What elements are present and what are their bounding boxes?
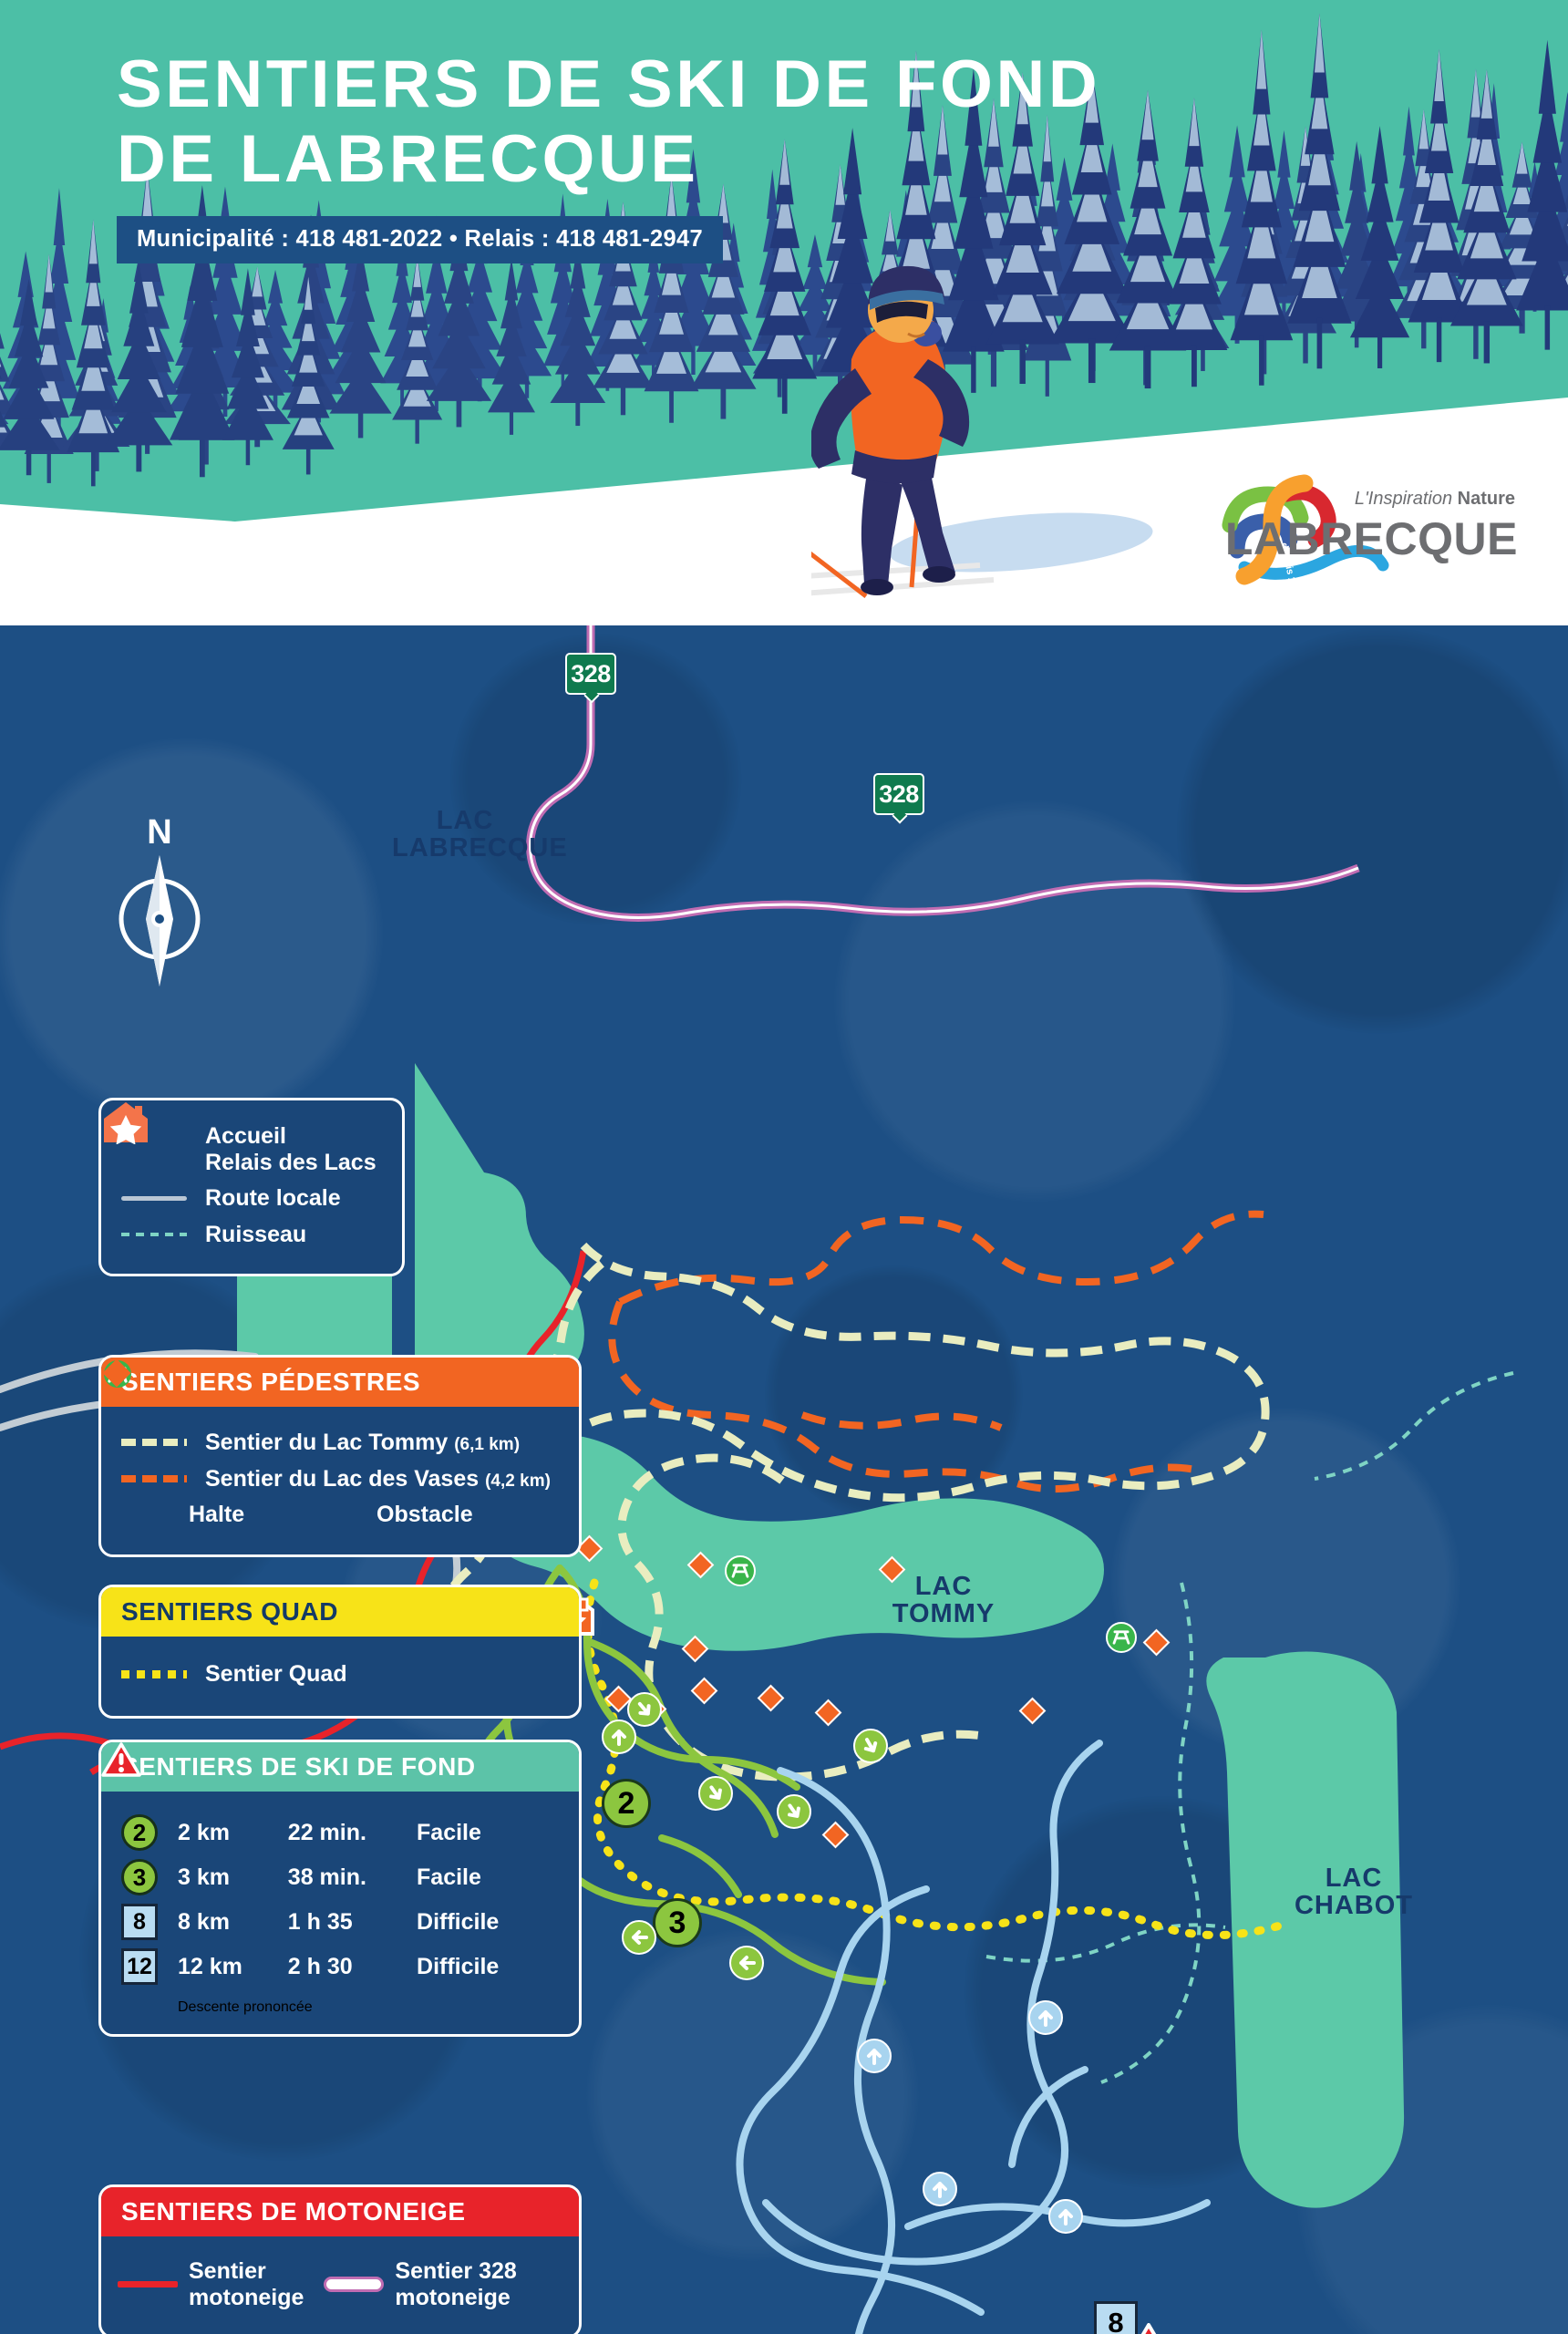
ski-time: 22 min. bbox=[288, 1820, 417, 1846]
ski-distance: 8 km bbox=[178, 1909, 288, 1936]
ski-badge-12: 12 bbox=[121, 1948, 158, 1985]
legend-label-halte: Halte bbox=[189, 1502, 325, 1528]
sentier-lac-des-vases bbox=[612, 1214, 1264, 1490]
ski-distance: 12 km bbox=[178, 1954, 288, 1980]
legend-header-pedestrian: SENTIERS PÉDESTRES bbox=[101, 1358, 579, 1407]
legend-item-accueil: Accueil Relais des Lacs bbox=[119, 1123, 384, 1175]
logo-wordmark: LABRECQUE bbox=[1225, 512, 1518, 565]
legend-label-sentier-lac-des-vases: Sentier du Lac des Vases (4,2 km) bbox=[205, 1466, 551, 1492]
legend-item-sentier-328-motoneige: Sentier 328 motoneige bbox=[324, 2258, 516, 2310]
page-title-line-1: SENTIERS DE SKI DE FOND bbox=[117, 47, 1100, 122]
ski-time: 38 min. bbox=[288, 1864, 417, 1891]
legend-label-sentier-motoneige: Sentier motoneige bbox=[189, 2258, 304, 2310]
legend-header-ski: SENTIERS DE SKI DE FOND bbox=[101, 1742, 579, 1792]
orange-dashed-line-icon bbox=[119, 1475, 189, 1482]
lake-label-tommy: LAC TOMMY bbox=[866, 1574, 1021, 1627]
poster-header: SENTIERS DE SKI DE FOND DE LABRECQUE Mun… bbox=[0, 0, 1568, 625]
legend-label-sentier-328-motoneige: Sentier 328 motoneige bbox=[395, 2258, 516, 2310]
ski-table-row: 12 12 km 2 h 30 Difficile bbox=[121, 1948, 561, 1985]
direction-arrow-marker bbox=[777, 1794, 811, 1829]
legend-panel-quad: SENTIERS QUAD Sentier Quad bbox=[98, 1585, 582, 1719]
legend-panel-general: Accueil Relais des Lacs Route locale Rui… bbox=[98, 1098, 405, 1276]
ski-distance: 2 km bbox=[178, 1820, 288, 1846]
compass-rose: N bbox=[109, 822, 210, 968]
direction-arrow-marker bbox=[853, 1729, 888, 1763]
direction-arrow-marker bbox=[729, 1946, 764, 1980]
direction-arrow-marker-blue bbox=[1028, 2000, 1063, 2035]
direction-arrow-marker bbox=[698, 1776, 733, 1811]
legend-header-quad: SENTIERS QUAD bbox=[101, 1587, 579, 1637]
page-title-line-2: DE LABRECQUE bbox=[117, 122, 1100, 197]
ski-table-row: 2 2 km 22 min. Facile bbox=[121, 1814, 561, 1851]
ski-table-row: 8 8 km 1 h 35 Difficile bbox=[121, 1904, 561, 1940]
legend-label-accueil: Accueil Relais des Lacs bbox=[205, 1123, 377, 1175]
title-block: SENTIERS DE SKI DE FOND DE LABRECQUE Mun… bbox=[117, 47, 1081, 263]
direction-arrow-marker bbox=[627, 1692, 662, 1727]
halte-picnic-marker-icon bbox=[725, 1555, 756, 1586]
ski-distance: 3 km bbox=[178, 1864, 288, 1891]
logo-tagline-bold: Nature bbox=[1458, 489, 1515, 509]
ski-badge-2: 2 bbox=[121, 1814, 158, 1851]
legend-item-descente-prononcee: Descente prononcée bbox=[121, 1999, 561, 2016]
legend-label-ruisseau: Ruisseau bbox=[205, 1222, 306, 1248]
solid-line-icon bbox=[119, 1196, 189, 1201]
direction-arrow-marker bbox=[602, 1720, 636, 1754]
ski-difficulty: Facile bbox=[417, 1864, 561, 1891]
legend-item-markers-row: Halte Obstacle bbox=[119, 1502, 561, 1528]
legend-item-sentier-lac-tommy: Sentier du Lac Tommy (6,1 km) bbox=[119, 1430, 561, 1456]
legend-label-sentier-quad: Sentier Quad bbox=[205, 1661, 347, 1688]
route-shield-328-north: 328 bbox=[565, 653, 616, 695]
cream-dashed-line-icon bbox=[119, 1439, 189, 1446]
legend-header-snowmobile: SENTIERS DE MOTONEIGE bbox=[101, 2187, 579, 2236]
trail-map[interactable]: N 328 328 LAC LABRECQUE LAC TOMMY LAC CH… bbox=[0, 625, 1568, 2334]
ski-time: 1 h 35 bbox=[288, 1909, 417, 1936]
pink-outline-line-icon bbox=[324, 2277, 384, 2292]
compass-north-label: N bbox=[109, 813, 210, 852]
direction-arrow-marker bbox=[622, 1920, 656, 1955]
legend-label-sentier-lac-tommy: Sentier du Lac Tommy (6,1 km) bbox=[205, 1430, 520, 1456]
direction-arrow-marker-blue bbox=[857, 2039, 892, 2073]
legend-panel-pedestrian: SENTIERS PÉDESTRES Sentier du Lac Tommy … bbox=[98, 1355, 582, 1557]
ski-difficulty: Facile bbox=[417, 1820, 561, 1846]
labrecque-logo: depuis 1925 L'Inspiration Nature LABRECQ… bbox=[1217, 472, 1518, 591]
legend-panel-snowmobile: SENTIERS DE MOTONEIGE Sentier motoneige … bbox=[98, 2184, 582, 2334]
logo-tagline-light: L'Inspiration bbox=[1355, 489, 1452, 509]
red-line-icon bbox=[118, 2281, 178, 2288]
ski-table-row: 3 3 km 38 min. Facile bbox=[121, 1859, 561, 1895]
legend-item-route-locale: Route locale bbox=[119, 1185, 384, 1212]
lake-label-chabot: LAC CHABOT bbox=[1272, 1865, 1436, 1919]
cross-country-skier-illustration bbox=[811, 239, 1030, 604]
logo-tagline: L'Inspiration Nature bbox=[1355, 489, 1515, 510]
map-trail-badge-2[interactable]: 2 bbox=[602, 1779, 651, 1828]
ski-time: 2 h 30 bbox=[288, 1954, 417, 1980]
yellow-dotted-line-icon bbox=[119, 1670, 189, 1678]
route-shield-328-east: 328 bbox=[873, 773, 924, 815]
legend-label-descente-prononcee: Descente prononcée bbox=[178, 1999, 313, 2016]
ski-difficulty: Difficile bbox=[417, 1954, 561, 1980]
snowmobile-trail-328-inner bbox=[531, 625, 1358, 918]
dotted-line-icon bbox=[119, 1233, 189, 1236]
ski-difficulty: Difficile bbox=[417, 1909, 561, 1936]
ski-trails-blue bbox=[739, 1743, 1207, 2334]
legend-panel-ski: SENTIERS DE SKI DE FOND 2 2 km 22 min. F… bbox=[98, 1740, 582, 2037]
direction-arrow-marker-blue bbox=[923, 2172, 957, 2206]
legend-label-obstacle: Obstacle bbox=[377, 1502, 473, 1528]
lake-label-labrecque: LAC LABRECQUE bbox=[392, 808, 538, 862]
snowmobile-trail-328 bbox=[531, 625, 1358, 918]
legend-item-ruisseau: Ruisseau bbox=[119, 1222, 384, 1248]
map-warning-triangle-icon bbox=[1129, 2323, 1169, 2334]
halte-picnic-marker-icon-2 bbox=[1106, 1622, 1137, 1653]
legend-item-sentier-lac-des-vases: Sentier du Lac des Vases (4,2 km) bbox=[119, 1466, 561, 1492]
ski-trail-map-poster: SENTIERS DE SKI DE FOND DE LABRECQUE Mun… bbox=[0, 0, 1568, 2334]
map-trail-badge-3[interactable]: 3 bbox=[653, 1898, 702, 1947]
direction-arrow-marker-blue bbox=[1048, 2199, 1083, 2234]
ski-badge-3: 3 bbox=[121, 1859, 158, 1895]
legend-item-sentier-quad: Sentier Quad bbox=[119, 1661, 561, 1688]
legend-item-sentier-motoneige: Sentier motoneige bbox=[118, 2258, 304, 2310]
ski-badge-8: 8 bbox=[121, 1904, 158, 1940]
legend-label-route-locale: Route locale bbox=[205, 1185, 341, 1212]
contact-phone-bar: Municipalité : 418 481-2022 • Relais : 4… bbox=[117, 216, 723, 263]
